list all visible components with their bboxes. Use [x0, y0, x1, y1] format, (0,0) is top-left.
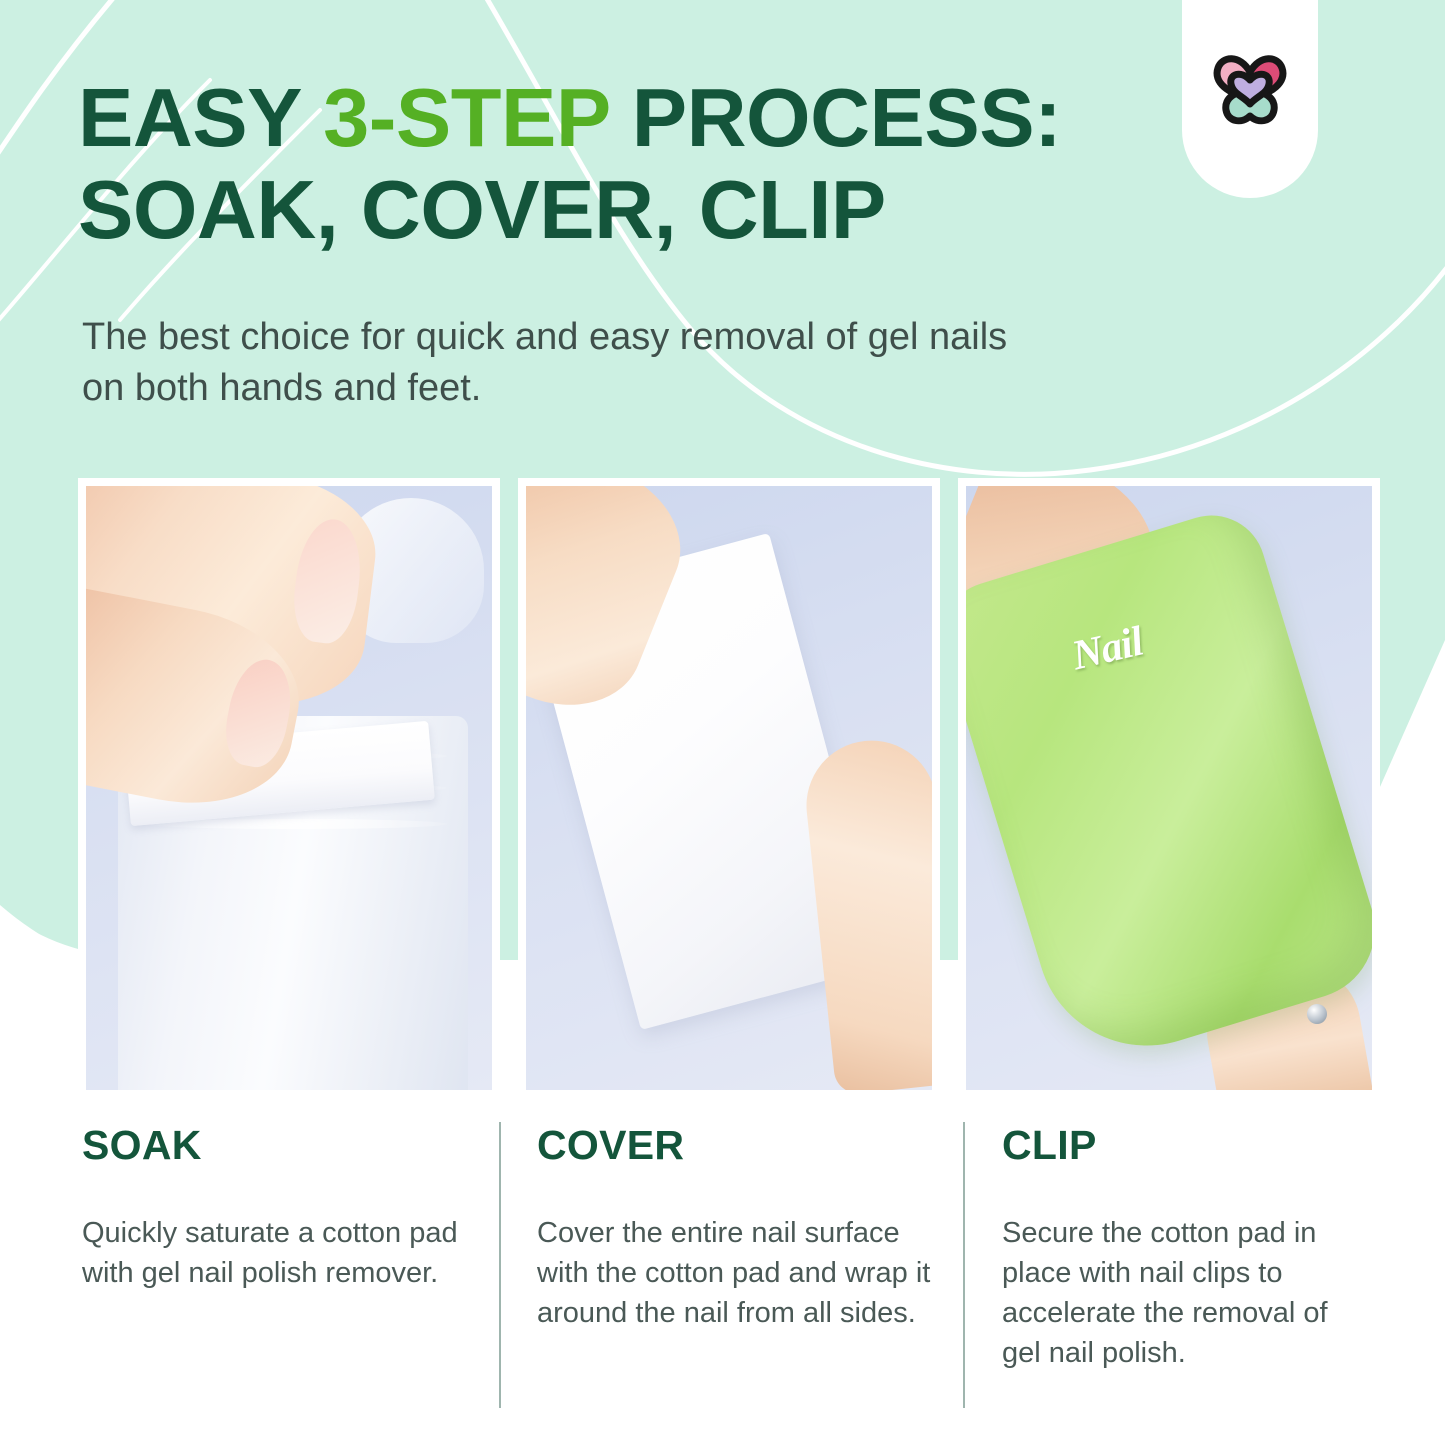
- step-clip: CLIP Secure the cotton pad in place with…: [1002, 1122, 1352, 1373]
- photo-card-clip: Nail: [958, 478, 1380, 1090]
- bottle-ring-3: [146, 819, 446, 829]
- steps-section: SOAK Quickly saturate a cotton pad with …: [0, 1122, 1445, 1422]
- title-line-1-after: PROCESS:: [609, 71, 1061, 164]
- step-cover: COVER Cover the entire nail surface with…: [537, 1122, 937, 1333]
- step-soak: SOAK Quickly saturate a cotton pad with …: [82, 1122, 472, 1293]
- step-soak-body: Quickly saturate a cotton pad with gel n…: [82, 1213, 472, 1293]
- clip-rivet: [1307, 1004, 1327, 1024]
- fingernail-upper-shape: [288, 515, 366, 646]
- column-divider-2: [963, 1122, 965, 1408]
- photo-cotton-pad-on-remover-bottle: [86, 486, 492, 1090]
- photo-green-nail-clip-on-finger: Nail: [966, 486, 1372, 1090]
- title-line-1: EASY 3-STEP PROCESS:: [78, 72, 1168, 164]
- step-cover-title: COVER: [537, 1122, 937, 1169]
- step-soak-title: SOAK: [82, 1122, 472, 1169]
- photo-card-row: Nail: [0, 478, 1445, 1090]
- step-clip-body: Secure the cotton pad in place with nail…: [1002, 1213, 1352, 1373]
- column-divider-1: [499, 1122, 501, 1408]
- photo-cotton-pad-held-in-fingers: [526, 486, 932, 1090]
- finger-bottom-shape: [800, 734, 932, 1090]
- photo-card-soak: [78, 478, 500, 1090]
- fingernail-lower-shape: [219, 654, 299, 772]
- photo-card-cover: [518, 478, 940, 1090]
- logo-badge: [1182, 0, 1318, 198]
- flower-heart-logo: [1200, 32, 1300, 132]
- title-accent-3step: 3-STEP: [323, 71, 609, 164]
- step-cover-body: Cover the entire nail surface with the c…: [537, 1213, 937, 1333]
- title-line-1-before: EASY: [78, 71, 323, 164]
- title-line-2: SOAK, COVER, CLIP: [78, 164, 1168, 256]
- green-nail-clip-shape: [966, 503, 1372, 1074]
- step-clip-title: CLIP: [1002, 1122, 1352, 1169]
- page-subtitle: The best choice for quick and easy remov…: [82, 312, 1012, 414]
- page-title: EASY 3-STEP PROCESS: SOAK, COVER, CLIP: [78, 72, 1168, 256]
